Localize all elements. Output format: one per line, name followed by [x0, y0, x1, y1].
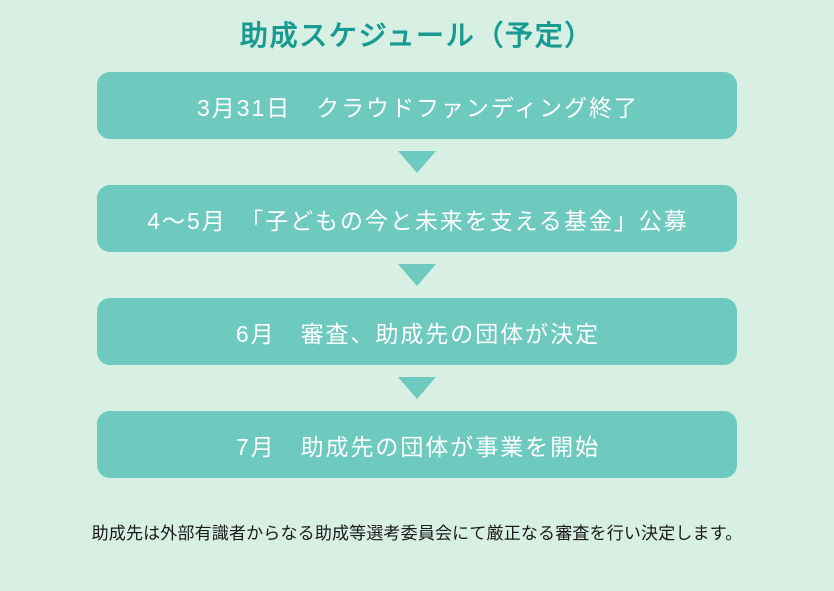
schedule-step-label: 4〜5月 「子どもの今と未来を支える基金」公募 — [145, 202, 688, 236]
schedule-step-list: 3月31日 クラウドファンディング終了 4〜5月 「子どもの今と未来を支える基金… — [97, 72, 737, 478]
schedule-step-label: 7月 助成先の団体が事業を開始 — [234, 428, 600, 462]
schedule-step-label: 3月31日 クラウドファンディング終了 — [195, 89, 639, 123]
step-connector-2 — [97, 252, 737, 298]
page-title: 助成スケジュール（予定） — [240, 0, 594, 72]
footnote-text: 助成先は外部有識者からなる助成等選考委員会にて厳正なる審査を行い決定します。 — [0, 522, 834, 546]
step-connector-3 — [97, 365, 737, 411]
schedule-step-2: 4〜5月 「子どもの今と未来を支える基金」公募 — [97, 185, 737, 252]
triangle-down-icon — [398, 377, 436, 399]
step-connector-1 — [97, 139, 737, 185]
triangle-down-icon — [398, 264, 436, 286]
schedule-infographic: 助成スケジュール（予定） 3月31日 クラウドファンディング終了 4〜5月 「子… — [0, 0, 834, 591]
schedule-step-3: 6月 審査、助成先の団体が決定 — [97, 298, 737, 365]
schedule-step-4: 7月 助成先の団体が事業を開始 — [97, 411, 737, 478]
schedule-step-label: 6月 審査、助成先の団体が決定 — [234, 315, 600, 349]
triangle-down-icon — [398, 151, 436, 173]
schedule-step-1: 3月31日 クラウドファンディング終了 — [97, 72, 737, 139]
